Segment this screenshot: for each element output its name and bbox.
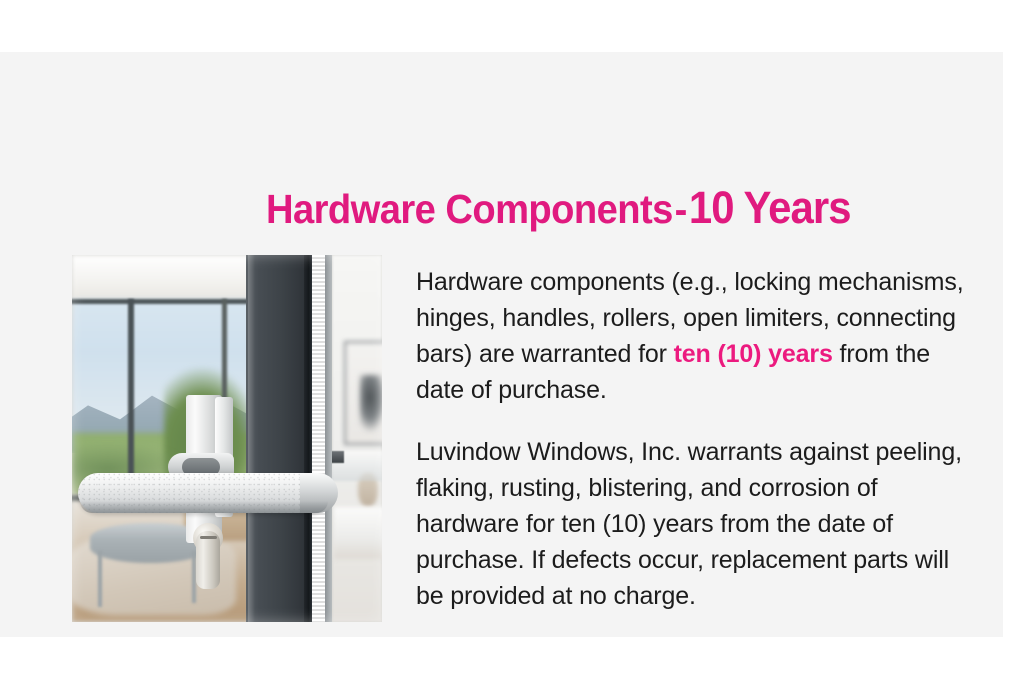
page-title-separator: -: [673, 186, 689, 232]
glazing-gasket: [312, 255, 325, 622]
artwork-motif: [360, 375, 382, 431]
interior-sideboard: [334, 507, 382, 559]
paragraph-1-highlight: ten (10) years: [674, 340, 833, 368]
content-panel: Hardware Components-10 Years: [0, 52, 1003, 637]
scene-ceiling: [72, 255, 250, 303]
hardware-photo: [72, 255, 382, 622]
paragraph-hardware-warranty: Hardware components (e.g., locking mecha…: [416, 264, 964, 408]
photo-scene: [72, 255, 382, 622]
warranty-card-page: Hardware Components-10 Years: [0, 0, 1024, 687]
door-frame-stile: [246, 255, 310, 622]
door-frame-highlight: [248, 255, 255, 622]
glazing-gasket-shadow: [325, 255, 332, 622]
door-frame-edge: [304, 255, 312, 622]
body-copy: Hardware components (e.g., locking mecha…: [416, 264, 964, 614]
cylinder-keyway: [200, 536, 217, 539]
page-title: Hardware Components-10 Years: [266, 183, 936, 237]
handle-lever-shadow: [80, 501, 328, 513]
paragraph-finish-warranty: Luvindow Windows, Inc. warrants against …: [416, 434, 964, 614]
cylinder-lock-body: [196, 531, 220, 589]
scene-table-leg-left: [98, 551, 102, 607]
page-title-accent: 10 Years: [689, 182, 851, 233]
page-title-main: Hardware Components: [266, 186, 673, 232]
door-strike-plate: [330, 451, 344, 463]
